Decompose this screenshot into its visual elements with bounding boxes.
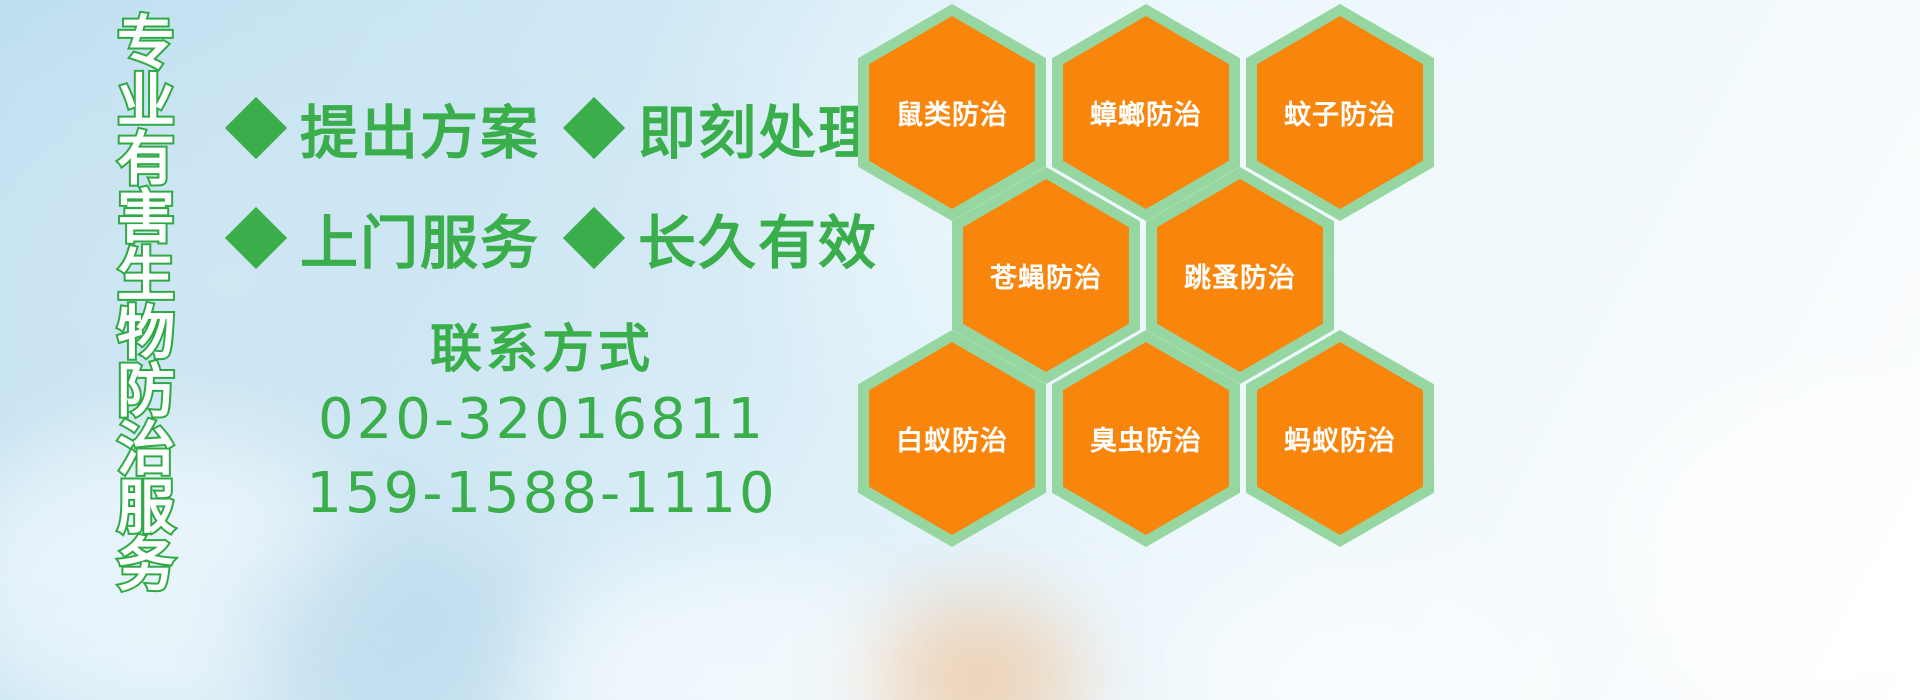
diamond-icon: [563, 207, 625, 269]
vertical-headline-char: 物: [117, 304, 175, 362]
contact-title: 联系方式: [232, 318, 852, 383]
service-hex-label: 跳蚤防治: [1184, 256, 1296, 295]
honeycomb-row-3: 白蚁防治 臭虫防治 蚂蚁防治: [858, 330, 1440, 547]
background-blob: [880, 600, 1080, 700]
vertical-headline-char: 业: [117, 72, 175, 130]
service-hex-termite[interactable]: 白蚁防治: [858, 330, 1046, 547]
vertical-headline-char: 害: [117, 188, 175, 246]
vertical-headline: 专 业 有 害 生 物 防 治 服 务: [104, 14, 188, 554]
service-hex-label: 臭虫防治: [1090, 419, 1202, 458]
feature-label: 即刻处理: [638, 86, 878, 170]
vertical-headline-char: 治: [117, 420, 175, 478]
service-hex-label: 苍蝇防治: [990, 256, 1102, 295]
service-hex-label: 鼠类防治: [896, 93, 1008, 132]
vertical-headline-char: 防: [117, 362, 175, 420]
service-hex-label: 蚊子防治: [1284, 93, 1396, 132]
service-hex-bedbug[interactable]: 臭虫防治: [1052, 330, 1240, 547]
feature-row-1: 提出方案 即刻处理: [232, 86, 878, 170]
vertical-headline-char: 服: [117, 478, 175, 536]
service-hex-label: 蟑螂防治: [1090, 93, 1202, 132]
service-hex-label: 白蚁防治: [896, 419, 1008, 458]
background-blob: [1180, 560, 1560, 700]
feature-row-2: 上门服务 长久有效: [232, 196, 878, 280]
feature-label: 上门服务: [300, 196, 540, 280]
diamond-icon: [563, 97, 625, 159]
diamond-icon: [225, 207, 287, 269]
vertical-headline-char: 专: [117, 14, 175, 72]
service-honeycomb: 鼠类防治 蟑螂防治 蚊子防治 苍蝇防治 跳蚤防治 白蚁防治 臭虫防治: [858, 4, 1458, 554]
service-hex-label: 蚂蚁防治: [1284, 419, 1396, 458]
feature-label: 长久有效: [638, 196, 878, 280]
vertical-headline-char: 有: [117, 130, 175, 188]
contact-block: 联系方式 020-32016811 159-1588-1110: [232, 318, 852, 531]
vertical-headline-char: 生: [117, 246, 175, 304]
feature-label: 提出方案: [300, 86, 540, 170]
pest-control-banner: 专 业 有 害 生 物 防 治 服 务 提出方案 即刻处理 上门服务 长久有效 …: [0, 0, 1920, 700]
background-blob: [520, 560, 940, 700]
vertical-headline-char: 务: [117, 536, 175, 594]
service-hex-ant[interactable]: 蚂蚁防治: [1246, 330, 1434, 547]
phone-number-mobile[interactable]: 159-1588-1110: [232, 457, 852, 531]
phone-number-landline[interactable]: 020-32016811: [232, 383, 852, 457]
background-blob: [1620, 380, 1920, 700]
diamond-icon: [225, 97, 287, 159]
background-blob: [250, 530, 550, 700]
